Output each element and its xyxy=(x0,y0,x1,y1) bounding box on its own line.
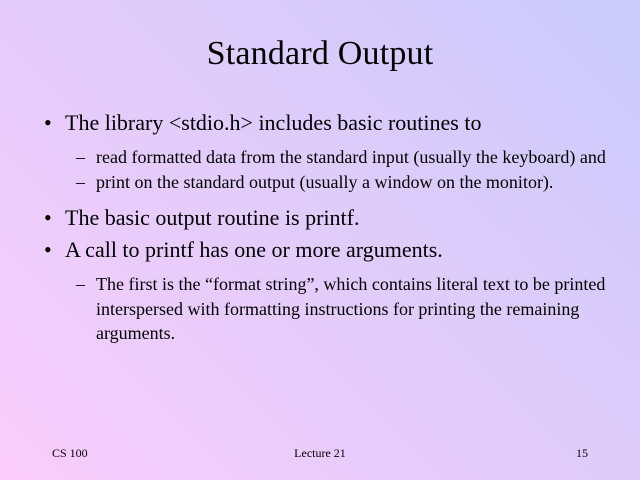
bullet-text: read formatted data from the standard in… xyxy=(96,147,606,167)
footer-course-label: CS 100 xyxy=(30,444,232,462)
bullet-item-level1: • The library <stdio.h> includes basic r… xyxy=(30,108,610,138)
bullet-dash-icon: – xyxy=(76,145,85,170)
slide-title: Standard Output xyxy=(40,34,600,74)
presentation-slide: Standard Output • The library <stdio.h> … xyxy=(0,0,640,480)
spacer xyxy=(30,194,610,203)
footer-lecture-label: Lecture 21 xyxy=(232,444,408,462)
bullet-text: A call to printf has one or more argumen… xyxy=(65,237,443,262)
footer-page-number: 15 xyxy=(408,444,610,462)
bullet-dash-icon: – xyxy=(76,170,85,195)
slide-footer: CS 100 Lecture 21 15 xyxy=(30,444,610,462)
bullet-text: print on the standard output (usually a … xyxy=(96,172,553,192)
bullet-item-level2: – print on the standard output (usually … xyxy=(30,170,610,195)
bullet-item-level1: • A call to printf has one or more argum… xyxy=(30,235,610,265)
bullet-text: The first is the “format string”, which … xyxy=(96,274,605,343)
bullet-dot-icon: • xyxy=(44,108,52,138)
bullet-dot-icon: • xyxy=(44,203,52,233)
bullet-item-level2: – read formatted data from the standard … xyxy=(30,145,610,170)
slide-body: • The library <stdio.h> includes basic r… xyxy=(30,108,610,346)
bullet-text: The basic output routine is printf. xyxy=(65,205,360,230)
bullet-item-level2: – The first is the “format string”, whic… xyxy=(30,272,610,346)
bullet-item-level1: • The basic output routine is printf. xyxy=(30,203,610,233)
bullet-text: The library <stdio.h> includes basic rou… xyxy=(65,110,481,135)
bullet-dash-icon: – xyxy=(76,272,85,297)
bullet-dot-icon: • xyxy=(44,235,52,265)
